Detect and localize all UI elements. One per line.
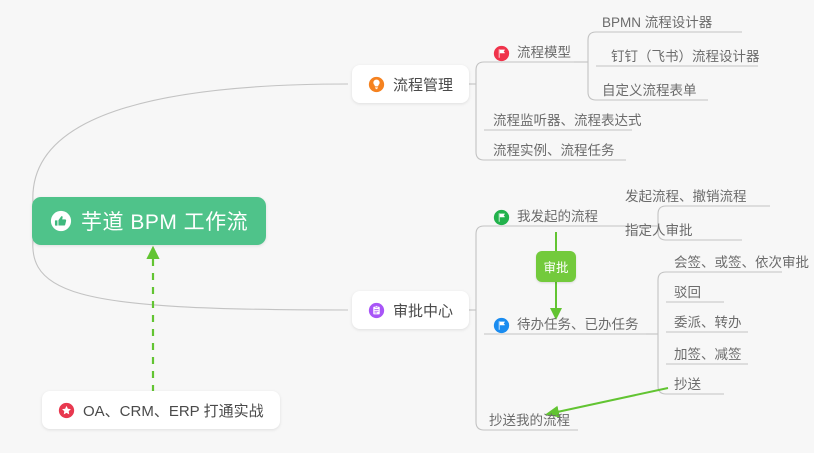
leaf-label-countersign: 会签、或签、依次审批 [674,256,809,270]
flag-icon [493,45,510,62]
leaf-label-custom-form: 自定义流程表单 [602,84,697,98]
leaf-process-instance[interactable]: 流程实例、流程任务 [493,142,615,160]
leaf-label-todo-done-tasks: 待办任务、已办任务 [517,318,639,332]
leaf-label-process-model: 流程模型 [517,46,571,60]
approval-tag-label: 审批 [543,257,568,276]
flag-icon [493,209,510,226]
branch-node-process-management[interactable]: 流程管理 [352,65,469,103]
leaf-label-assign-approver: 指定人审批 [625,224,693,238]
root-node[interactable]: 芋道 BPM 工作流 [32,197,266,245]
star-icon [58,402,75,419]
leaf-my-initiated-process[interactable]: 我发起的流程 [493,208,598,226]
leaf-delegate-transfer[interactable]: 委派、转办 [674,314,742,332]
branch-label-approval-center: 审批中心 [393,300,453,321]
leaf-label-my-initiated-process: 我发起的流程 [517,210,598,224]
leaf-bpmn-designer[interactable]: BPMN 流程设计器 [602,14,712,32]
leaf-label-cc-to-me-process: 抄送我的流程 [489,414,570,428]
leaf-label-add-remove-sign: 加签、减签 [674,348,742,362]
leaf-label-start-cancel-process: 发起流程、撤销流程 [625,190,747,204]
mindmap-canvas: 芋道 BPM 工作流 OA、CRM、ERP 打通实战 流程管理 流程模型 BPM… [0,0,814,453]
clipboard-icon [368,302,385,319]
leaf-label-cc: 抄送 [674,378,701,392]
lightbulb-icon [368,76,385,93]
leaf-start-cancel-process[interactable]: 发起流程、撤销流程 [625,188,747,206]
leaf-reject[interactable]: 驳回 [674,284,701,302]
leaf-label-reject: 驳回 [674,286,701,300]
note-node[interactable]: OA、CRM、ERP 打通实战 [42,391,280,429]
leaf-label-dingtalk-designer: 钉钉（飞书）流程设计器 [611,50,760,64]
leaf-process-listener[interactable]: 流程监听器、流程表达式 [493,112,642,130]
leaf-label-process-instance: 流程实例、流程任务 [493,144,615,158]
leaf-add-remove-sign[interactable]: 加签、减签 [674,346,742,364]
leaf-cc-to-me-process[interactable]: 抄送我的流程 [489,412,570,430]
flag-icon [493,317,510,334]
approval-tag[interactable]: 审批 [536,251,576,282]
thumbs-up-icon [50,210,72,232]
connector-branch1-bracket [476,226,484,430]
leaf-label-delegate-transfer: 委派、转办 [674,316,742,330]
leaf-label-process-listener: 流程监听器、流程表达式 [493,114,642,128]
connector-cc-to-ccme [548,388,668,414]
leaf-assign-approver[interactable]: 指定人审批 [625,222,693,240]
leaf-todo-done-tasks[interactable]: 待办任务、已办任务 [493,316,639,334]
leaf-label-bpmn-designer: BPMN 流程设计器 [602,16,712,30]
connector-model-bracket [588,32,596,100]
leaf-cc[interactable]: 抄送 [674,376,701,394]
leaf-process-model[interactable]: 流程模型 [493,44,571,62]
connector-todo-bracket [658,272,666,394]
leaf-custom-form[interactable]: 自定义流程表单 [602,82,697,100]
note-label: OA、CRM、ERP 打通实战 [83,400,264,421]
leaf-countersign[interactable]: 会签、或签、依次审批 [674,254,809,272]
connector-branch0-bracket [476,62,484,160]
branch-node-approval-center[interactable]: 审批中心 [352,291,469,329]
root-label: 芋道 BPM 工作流 [81,206,248,236]
branch-label-process-management: 流程管理 [393,74,453,95]
leaf-dingtalk-designer[interactable]: 钉钉（飞书）流程设计器 [611,48,760,66]
